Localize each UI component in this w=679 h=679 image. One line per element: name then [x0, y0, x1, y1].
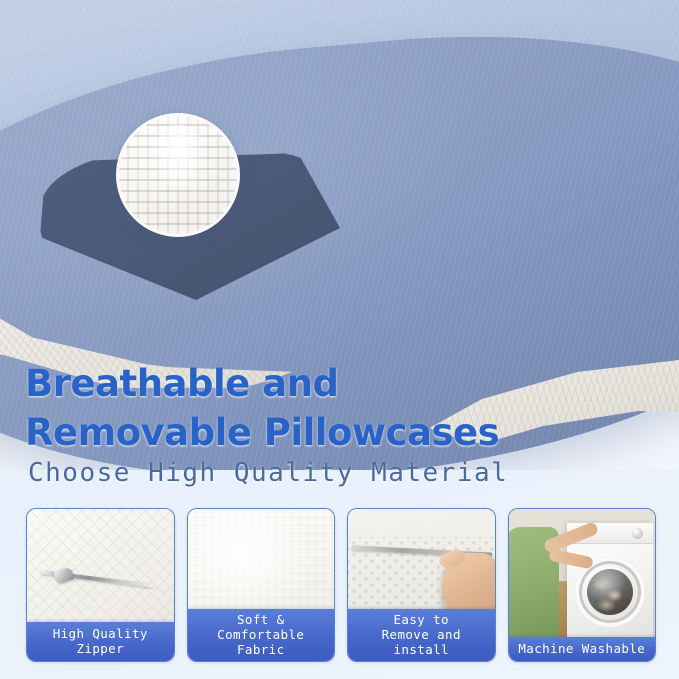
card-caption-line-1: Machine Washable [518, 641, 645, 656]
feature-card-easy-remove-and-install[interactable]: Easy to Remove and install [347, 508, 496, 662]
card-caption-line-1: Soft & Comfortable [217, 612, 304, 642]
headline: Breathable and Removable Pillowcases [25, 359, 499, 457]
product-infographic: Breathable and Removable Pillowcases Cho… [0, 0, 679, 679]
machine-door-glass [587, 569, 633, 615]
subheading: Choose High Quality Material [28, 458, 508, 488]
card-caption-easy-remove: Easy to Remove and install [348, 609, 495, 661]
card-caption-fabric: Soft & Comfortable Fabric [188, 609, 335, 661]
card-caption-line-1: High Quality Zipper [53, 626, 148, 656]
card-caption-line-2: Fabric [190, 642, 333, 657]
laundry-inside-drum [590, 577, 628, 611]
feature-card-machine-washable[interactable]: Machine Washable [508, 508, 657, 662]
headline-line-2: Removable Pillowcases [25, 408, 499, 457]
feature-card-row: High Quality Zipper Soft & Comfortable F… [26, 508, 656, 660]
machine-dial-knob [632, 528, 643, 539]
feature-card-high-quality-zipper[interactable]: High Quality Zipper [26, 508, 175, 662]
card-caption-line-2: Remove and install [350, 627, 493, 657]
card-caption-machine-washable: Machine Washable [509, 637, 656, 661]
headline-line-1: Breathable and [25, 359, 499, 408]
fabric-texture-magnifier-icon [116, 113, 240, 237]
card-caption-line-1: Easy to [394, 612, 449, 627]
feature-card-soft-comfortable-fabric[interactable]: Soft & Comfortable Fabric [187, 508, 336, 662]
washing-machine-icon [567, 523, 653, 655]
card-caption-zipper: High Quality Zipper [27, 622, 174, 661]
